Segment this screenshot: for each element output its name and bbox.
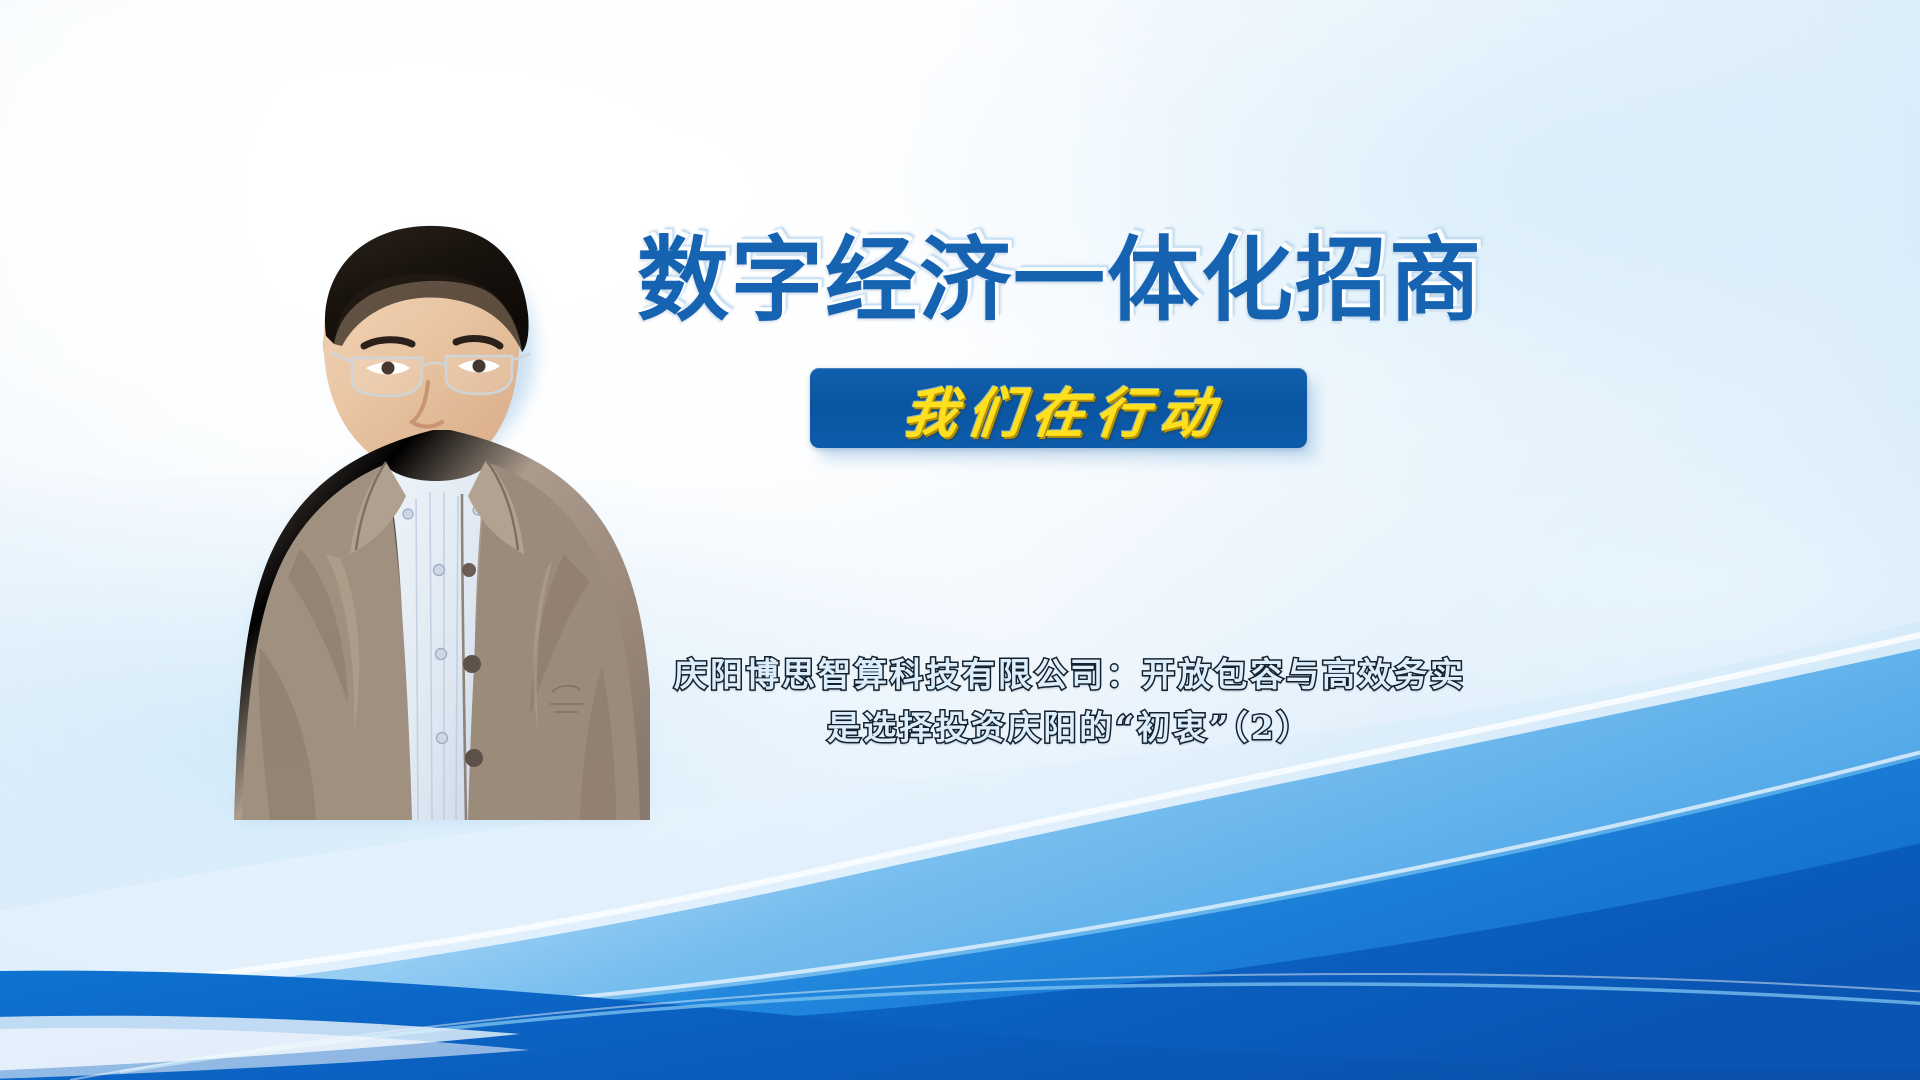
slogan-text: 我们在行动	[889, 369, 1227, 448]
poster-stage: 数字经济一体化招商 我们在行动 庆阳博思智算科技有限公司：开放包容与高效务实 是…	[0, 0, 1920, 1080]
slogan-banner: 我们在行动	[810, 368, 1307, 450]
headline-text: 数字经济一体化招商	[637, 235, 1483, 327]
portrait-figure	[150, 218, 690, 820]
portrait	[150, 218, 690, 820]
subtitle-line-1: 庆阳博思智算科技有限公司：开放包容与高效务实	[620, 648, 1520, 701]
headline: 数字经济一体化招商	[660, 226, 1460, 336]
subtitle-block: 庆阳博思智算科技有限公司：开放包容与高效务实 是选择投资庆阳的“初衷”（2）	[620, 648, 1520, 755]
subtitle-line-2: 是选择投资庆阳的“初衷”（2）	[620, 701, 1520, 754]
slogan-banner-box: 我们在行动	[810, 368, 1307, 448]
